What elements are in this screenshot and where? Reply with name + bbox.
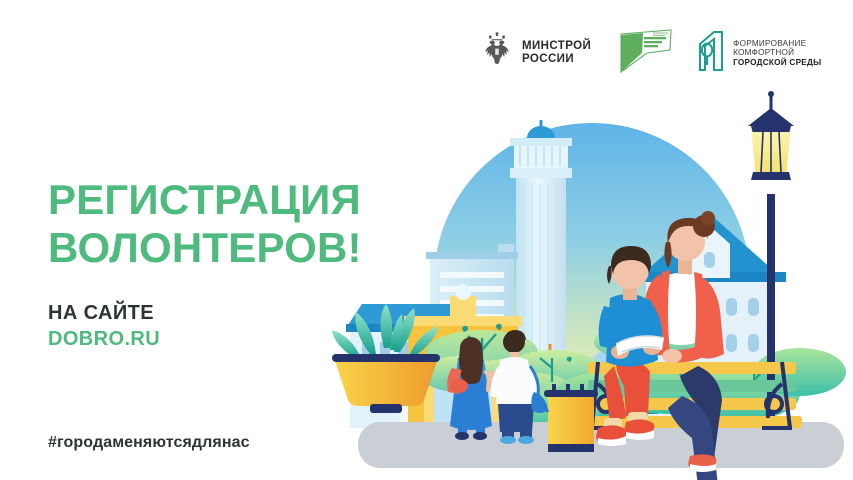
comfortable-environment-logo-text: ФОРМИРОВАНИЕ КОМФОРТНОЙ ГОРОДСКОЙ СРЕДЫ [733,39,821,67]
website-url[interactable]: DOBRO.RU [48,328,160,351]
minstroy-line-2: РОССИИ [522,53,591,66]
headline-line-1: РЕГИСТРАЦИЯ [48,176,361,223]
minstroy-logo-text: МИНСТРОЙ РОССИИ [522,40,591,66]
trash-bin [544,384,598,452]
hashtag: #городаменяютсядлянас [48,434,250,452]
city-park-illustration [330,66,853,480]
kgs-line-2: КОМФОРТНОЙ [733,48,821,57]
minstroy-line-1: МИНСТРОЙ [522,40,591,53]
poster-canvas: МИНСТРОЙ РОССИИ [0,0,853,480]
subtitle-line-1: НА САЙТЕ [48,302,160,325]
subtitle-block: НА САЙТЕ DOBRO.RU [48,302,160,351]
